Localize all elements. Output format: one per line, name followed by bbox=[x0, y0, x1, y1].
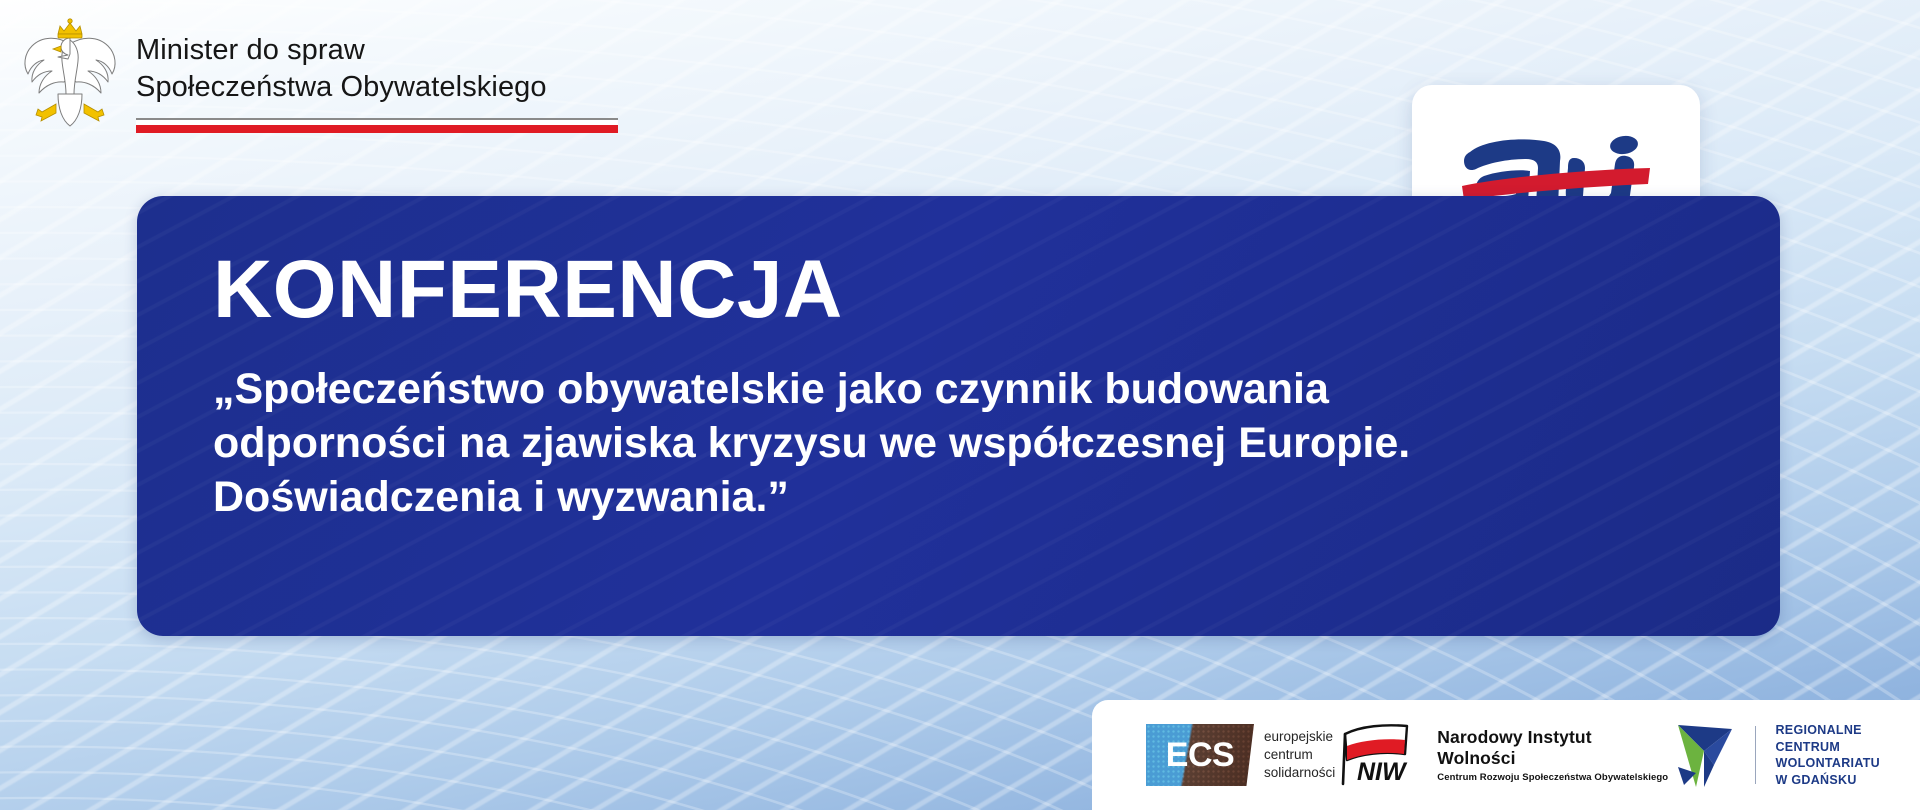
ecs-word-3: solidarności bbox=[1264, 764, 1335, 782]
niw-title: Narodowy Instytut Wolności bbox=[1437, 727, 1674, 769]
conference-panel: KONFERENCJA „Społeczeństwo obywatelskie … bbox=[137, 196, 1780, 636]
niw-wordmark: Narodowy Instytut Wolności Centrum Rozwo… bbox=[1437, 727, 1674, 783]
svg-text:NIW: NIW bbox=[1357, 758, 1408, 786]
ministry-title-line-1: Minister do spraw bbox=[136, 32, 618, 69]
rcw-wordmark: REGIONALNE CENTRUM WOLONTARIATU W GDAŃSK… bbox=[1775, 722, 1880, 788]
rcw-word-2: CENTRUM bbox=[1775, 739, 1880, 756]
rcw-logo-icon bbox=[1674, 721, 1736, 789]
ecs-word-2: centrum bbox=[1264, 746, 1335, 764]
ecs-wordmark: europejskie centrum solidarności bbox=[1264, 728, 1335, 782]
partner-niw: NIW Narodowy Instytut Wolności Centrum R… bbox=[1335, 724, 1674, 786]
rcw-word-1: REGIONALNE bbox=[1775, 722, 1880, 739]
ministry-rule-red bbox=[136, 125, 618, 133]
ecs-logo-icon: ECS bbox=[1146, 724, 1254, 786]
ministry-title-line-2: Społeczeństwa Obywatelskiego bbox=[136, 69, 618, 106]
rcw-divider bbox=[1755, 726, 1756, 784]
ecs-logo-text: ECS bbox=[1166, 736, 1234, 775]
conference-subtitle: „Społeczeństwo obywatelskie jako czynnik… bbox=[213, 362, 1533, 524]
rcw-word-3: WOLONTARIATU bbox=[1775, 755, 1880, 772]
niw-subtitle: Centrum Rozwoju Społeczeństwa Obywatelsk… bbox=[1437, 772, 1674, 783]
conference-kicker: KONFERENCJA bbox=[213, 244, 1720, 336]
ministry-rule bbox=[136, 118, 618, 133]
conference-banner: Minister do spraw Społeczeństwa Obywatel… bbox=[0, 0, 1920, 810]
niw-flag-logo-icon: NIW bbox=[1335, 724, 1427, 786]
partner-ecs: ECS europejskie centrum solidarności bbox=[1146, 724, 1335, 786]
ecs-word-1: europejskie bbox=[1264, 728, 1335, 746]
ministry-title-block: Minister do spraw Społeczeństwa Obywatel… bbox=[136, 16, 618, 133]
ministry-lockup: Minister do spraw Społeczeństwa Obywatel… bbox=[18, 16, 618, 133]
partners-bar: ECS europejskie centrum solidarności NIW… bbox=[1092, 700, 1920, 810]
rcw-word-4: W GDAŃSKU bbox=[1775, 772, 1880, 789]
polish-eagle-emblem-icon bbox=[18, 16, 122, 132]
partner-rcw: REGIONALNE CENTRUM WOLONTARIATU W GDAŃSK… bbox=[1674, 721, 1880, 789]
